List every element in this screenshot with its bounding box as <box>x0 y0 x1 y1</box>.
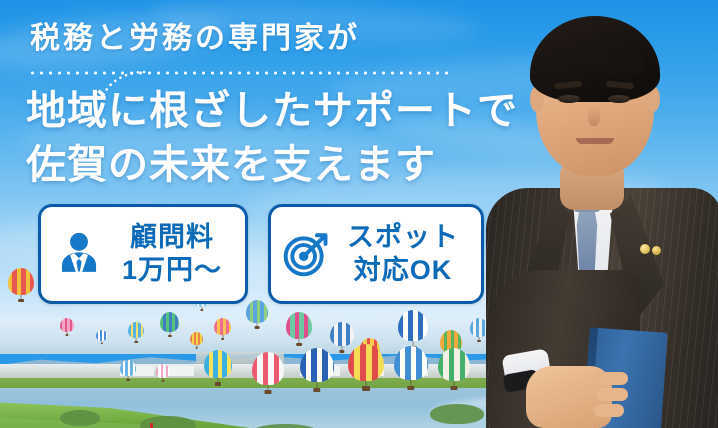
target-arrow-icon <box>279 227 333 281</box>
finger <box>596 388 628 401</box>
balloon-basket <box>126 379 130 381</box>
headline-eyebrow: 税務と労務の専門家が <box>30 20 360 58</box>
balloon-basket <box>134 341 138 343</box>
hot-air-balloon <box>120 360 136 381</box>
balloon-basket <box>450 386 457 390</box>
hot-air-balloon <box>394 346 428 390</box>
balloon-basket <box>407 386 414 390</box>
dotted-divider <box>28 71 448 75</box>
bush <box>140 416 196 428</box>
balloon-envelope <box>214 318 231 335</box>
hot-air-balloon <box>190 332 203 349</box>
badge-spot-support-text: スポット 対応OK <box>333 221 473 287</box>
balloon-envelope <box>394 346 428 380</box>
balloon-envelope <box>300 348 334 382</box>
balloon-basket <box>296 343 302 346</box>
balloon-basket <box>161 380 164 382</box>
hot-air-balloon <box>300 348 334 392</box>
balloon-envelope <box>156 364 170 378</box>
badge-1-line-2: 1万円〜 <box>107 254 237 287</box>
person-on-bank <box>150 423 153 428</box>
hot-air-balloon <box>214 318 231 340</box>
bush <box>60 410 100 426</box>
finger <box>594 404 624 417</box>
balloon-basket <box>65 334 68 336</box>
balloon-envelope <box>438 348 470 381</box>
hot-air-balloon <box>348 344 384 391</box>
badge-2-line-1: スポット <box>347 222 459 252</box>
badge-consulting-fee[interactable]: 顧問料 1万円〜 <box>38 204 248 304</box>
hot-air-balloon <box>204 350 232 386</box>
hot-air-balloon <box>438 348 470 390</box>
balloon-basket <box>339 350 344 353</box>
hot-air-balloon <box>60 318 74 336</box>
headline-line-3: 佐賀の未来を支えます <box>26 140 436 190</box>
finger <box>594 372 628 385</box>
balloon-envelope <box>204 350 232 378</box>
hot-air-balloon <box>156 364 170 382</box>
balloon-basket <box>221 338 225 340</box>
headline-line-2: 地域に根ざしたサポートで <box>26 86 518 136</box>
badge-1-line-1: 顧問料 <box>130 222 214 252</box>
balloon-envelope <box>348 344 384 381</box>
balloon-envelope <box>252 352 284 385</box>
hot-air-balloon <box>252 352 284 394</box>
balloon-envelope <box>96 330 107 341</box>
balloon-envelope <box>330 322 354 346</box>
balloon-basket <box>167 335 171 338</box>
balloon-envelope <box>190 332 203 345</box>
balloon-basket <box>215 382 221 386</box>
badge-spot-support[interactable]: スポット 対応OK <box>268 204 484 304</box>
businessman-icon <box>51 226 107 282</box>
hot-air-balloon <box>128 322 144 343</box>
hot-air-balloon <box>96 330 107 344</box>
balloon-envelope <box>128 322 144 338</box>
badge-consulting-fee-text: 顧問料 1万円〜 <box>107 221 237 287</box>
balloon-basket <box>195 347 198 349</box>
badge-2-line-2: 対応OK <box>333 254 473 287</box>
balloon-envelope <box>120 360 136 376</box>
balloon-basket <box>264 390 271 394</box>
balloon-basket <box>313 388 320 392</box>
hero-banner: 税務と労務の専門家が 地域に根ざしたサポートで 佐賀の未来を支えます 顧問料 1… <box>0 0 718 428</box>
balloon-basket <box>255 326 260 329</box>
balloon-envelope <box>60 318 74 332</box>
balloon-basket <box>100 343 102 344</box>
balloon-basket <box>362 386 370 391</box>
